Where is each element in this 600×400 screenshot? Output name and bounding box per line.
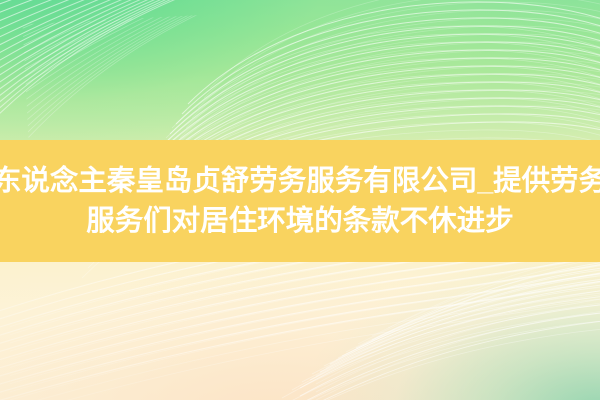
title-line-2: 服务们对居住环境的条款不休进步 [86,201,514,241]
title-band: 东说念主秦皇岛贞舒劳务服务有限公司_提供劳务 服务们对居住环境的条款不休进步 [0,140,600,262]
title-line-1: 东说念主秦皇岛贞舒劳务服务有限公司_提供劳务 [0,161,600,201]
banner-image: 东说念主秦皇岛贞舒劳务服务有限公司_提供劳务 服务们对居住环境的条款不休进步 [0,0,600,400]
